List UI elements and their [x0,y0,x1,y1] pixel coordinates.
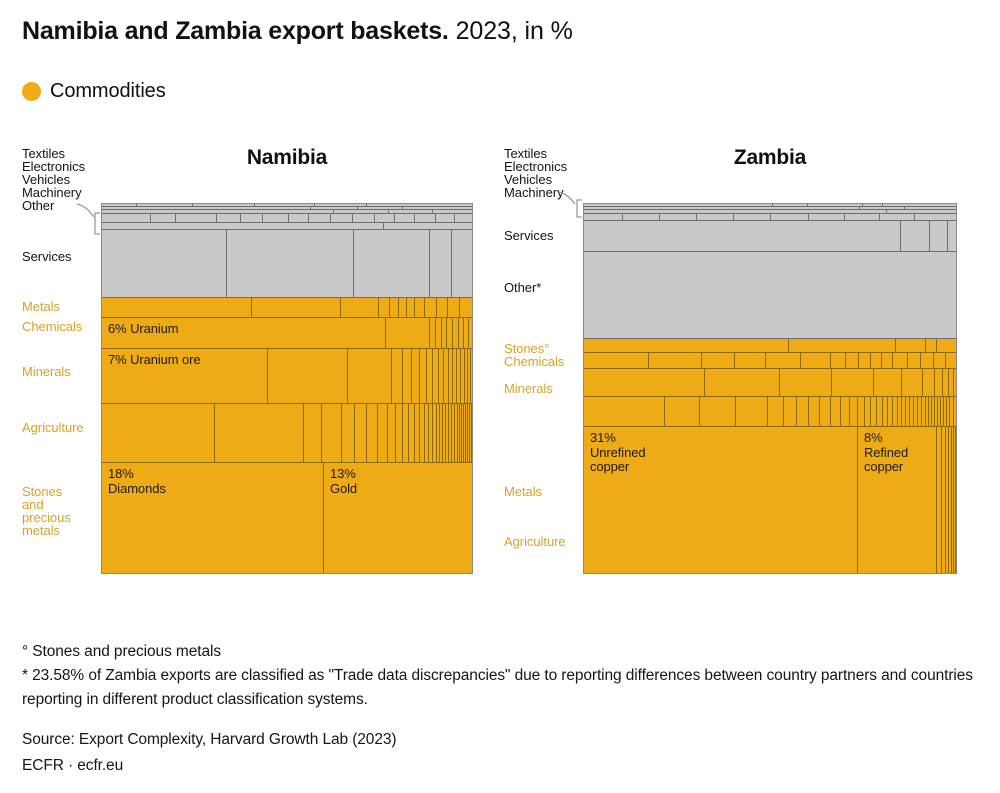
legend-item-commodities: Commodities [50,80,166,103]
tile-zambia-services-c [930,221,948,252]
panel-zambia: Zambia Textiles Electronics Vehicles Mac… [482,140,1000,590]
tile-zambia-chem-1 [584,353,649,369]
tile-zambia-agri-7 [797,397,809,427]
tile-namibia-diamonds: 18% Diamonds [102,463,324,574]
tile-label-uranium: 6% Uranium [108,322,179,337]
tile-zambia-services-a [584,221,901,252]
tile-zambia-agri-2 [665,397,700,427]
tile-namibia-metals-12 [460,298,473,318]
tile-subsplits-namibia-thin [102,204,473,230]
rowlabel-namibia-services: Services [22,250,71,264]
tile-zambia-agri-6 [784,397,797,427]
tile-zambia-agri-11 [841,397,850,427]
tile-zambia-min-2 [705,369,780,397]
tile-zambia-chem-12 [893,353,908,369]
rowlabel-zambia-services: Services [504,229,553,243]
tile-namibia-metals-7 [407,298,415,318]
tile-namibia-minerals-18 [471,349,473,404]
tile-zambia-agri-1 [584,397,665,427]
rowlabel-namibia-stones: Stones and precious metals [22,485,71,537]
credit-line: ECFR · ecfr.eu [22,754,123,777]
tile-zambia-chem-15 [934,353,946,369]
tile-zambia-chem-3 [702,353,735,369]
tile-namibia-agri-4 [322,404,342,463]
infographic-page: Namibia and Zambia export baskets. 2023,… [0,0,1000,793]
tile-zambia-min-1 [584,369,705,397]
tile-namibia-metals-2 [252,298,341,318]
tile-namibia-metals-9 [425,298,437,318]
tile-zambia-agri-8 [809,397,820,427]
tile-zambia-agri-9 [820,397,831,427]
tile-namibia-agri-32 [472,404,473,463]
tile-namibia-agri-6 [355,404,367,463]
rowlabel-namibia-chemicals: Chemicals [22,320,82,334]
rowlabel-zambia-chemicals: Chemicals [504,355,564,369]
title-main: Namibia and Zambia export baskets. [22,17,449,45]
tile-zambia-services-b [901,221,930,252]
tile-zambia-metals-9 [956,427,957,574]
tile-label-uranium-ore: 7% Uranium ore [108,353,201,368]
tile-zambia-refined-copper: 8% Refined copper [858,427,937,574]
treemap-namibia: 6% Uranium 7% Uranium ore [101,203,473,574]
tile-zambia-services-d [948,221,957,252]
tile-namibia-metals-11 [448,298,460,318]
tile-namibia-services-c [354,230,430,298]
rowlabel-namibia-metals: Metals [22,300,60,314]
panel-namibia: Namibia Textiles Electronics Vehicles Ma… [0,140,490,590]
tile-namibia-agri-10 [396,404,403,463]
footnote-asterisk: * 23.58% of Zambia exports are classifie… [22,664,982,712]
tile-namibia-minerals-5 [403,349,412,404]
bracket-namibia-thin-rows [76,202,102,236]
tile-zambia-min-7 [923,369,935,397]
tile-label-refined-copper: 8% Refined copper [864,431,908,475]
tile-namibia-metals-4 [379,298,390,318]
tile-zambia-agri-5 [768,397,784,427]
tile-namibia-services-d [430,230,452,298]
tile-zambia-min-6 [902,369,923,397]
footnote-degree: ° Stones and precious metals [22,640,982,664]
tile-zambia-stones-4 [926,339,937,353]
tile-label-gold: 13% Gold [330,467,357,496]
page-title: Namibia and Zambia export baskets. 2023,… [22,16,573,46]
rowlabel-zambia-minerals: Minerals [504,382,553,396]
tile-subsplits-zambia-thin [584,204,957,221]
tile-zambia-chem-10 [871,353,882,369]
tile-zambia-stones-1 [584,339,789,353]
tile-zambia-chem-16 [946,353,957,369]
tile-zambia-chem-7 [831,353,846,369]
tile-zambia-stones-5 [937,339,957,353]
tile-namibia-agri-1 [102,404,215,463]
tile-namibia-agri-3 [304,404,322,463]
rowlabel-zambia-metals: Metals [504,485,542,499]
tile-zambia-agri-36 [954,397,957,427]
tile-namibia-minerals-4 [392,349,403,404]
tile-zambia-agri-12 [850,397,858,427]
tile-namibia-services-a [102,230,227,298]
tile-zambia-stones-3 [896,339,926,353]
tile-zambia-agri-13 [858,397,865,427]
tile-label-diamonds: 18% Diamonds [108,467,166,496]
tile-namibia-agri-7 [367,404,378,463]
rowlabel-zambia-other: Other* [504,281,541,295]
tile-zambia-chem-14 [921,353,934,369]
tile-namibia-uranium: 6% Uranium [102,318,386,349]
tile-namibia-metals-5 [390,298,399,318]
tile-namibia-agri-5 [342,404,355,463]
tile-namibia-metals-3 [341,298,379,318]
tile-namibia-services-e [452,230,473,298]
tile-zambia-chem-8 [846,353,859,369]
tile-namibia-agri-9 [388,404,396,463]
tile-zambia-chem-11 [882,353,893,369]
tile-zambia-chem-2 [649,353,702,369]
panel-title-namibia: Namibia [101,146,473,170]
tile-namibia-metals-10 [437,298,448,318]
tile-namibia-agri-31 [470,404,472,463]
tile-zambia-unrefined-copper: 31% Unrefined copper [584,427,858,574]
tile-zambia-agri-10 [831,397,841,427]
rowlabel-zambia-machinery: Machinery [504,186,564,199]
tile-namibia-metals-6 [399,298,407,318]
tile-zambia-other [584,252,957,339]
tile-namibia-minerals-7 [420,349,427,404]
tile-zambia-metals-8 [954,427,956,574]
tile-zambia-min-8 [935,369,943,397]
treemap-zambia: 31% Unrefined copper 8% Refined copper [583,203,957,574]
rowlabel-zambia-agriculture: Agriculture [504,535,566,549]
tile-namibia-uranium-ore: 7% Uranium ore [102,349,268,404]
rowlabel-namibia-agriculture: Agriculture [22,421,84,435]
title-subtitle: 2023, in % [456,17,573,45]
tile-namibia-agri-2 [215,404,304,463]
bracket-zambia-thin-rows [558,190,584,222]
tile-namibia-agri-8 [378,404,388,463]
tile-zambia-agri-3 [700,397,736,427]
commodities-color-swatch [22,82,41,101]
tile-namibia-minerals-3 [348,349,392,404]
tile-label-unrefined-copper: 31% Unrefined copper [590,431,645,475]
tile-zambia-agri-4 [736,397,768,427]
tile-namibia-metals-1 [102,298,252,318]
tile-zambia-min-11 [954,369,957,397]
source-line: Source: Export Complexity, Harvard Growt… [22,728,396,751]
tile-namibia-minerals-2 [268,349,348,404]
tile-namibia-chemicals-2 [386,318,430,349]
tile-namibia-chemicals-10 [469,318,473,349]
tile-zambia-min-3 [780,369,832,397]
tile-zambia-min-4 [832,369,874,397]
legend: Commodities [22,80,166,103]
tile-namibia-minerals-6 [412,349,420,404]
tile-zambia-chem-4 [735,353,766,369]
tile-namibia-gold: 13% Gold [324,463,473,574]
tile-zambia-chem-9 [859,353,871,369]
panel-title-zambia: Zambia [583,146,957,170]
tile-zambia-chem-6 [801,353,831,369]
rowlabel-namibia-minerals: Minerals [22,365,71,379]
rowlabel-namibia-other: Other [22,199,54,212]
tile-zambia-min-5 [874,369,902,397]
tile-namibia-services-b [227,230,354,298]
tile-zambia-chem-13 [908,353,921,369]
tile-zambia-stones-2 [789,339,896,353]
tile-namibia-metals-8 [415,298,425,318]
tile-zambia-chem-5 [766,353,801,369]
